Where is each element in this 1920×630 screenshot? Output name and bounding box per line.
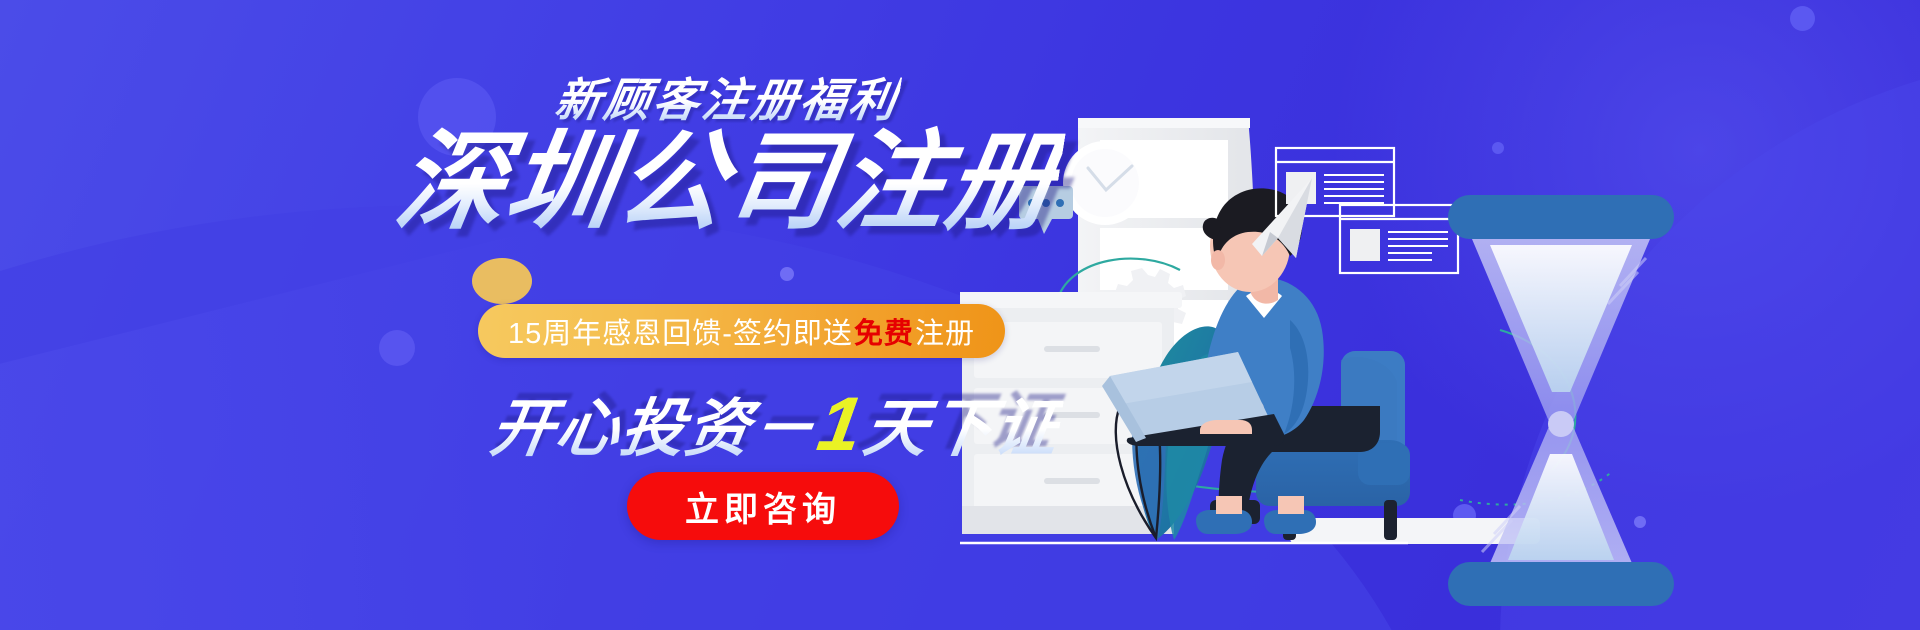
consult-now-label: 立即咨询: [685, 482, 841, 531]
hourglass: [1448, 195, 1674, 606]
copy-block: 新顾客注册福利 新顾客注册福利 深圳公司注册 深圳公司注册 15周年感恩回馈-签…: [0, 0, 1000, 630]
banner-tagline: 开心投资－1天下证: [485, 383, 1067, 467]
document-card-front-thumb: [1350, 229, 1380, 261]
promo-banner: 新顾客注册福利 新顾客注册福利 深圳公司注册 深圳公司注册 15周年感恩回馈-签…: [0, 0, 1920, 630]
page-title: 深圳公司注册: [389, 125, 1067, 238]
promo-badge: 15周年感恩回馈-签约即送免费注册: [478, 304, 1005, 358]
promo-highlight: 免费: [853, 310, 915, 352]
document-card-back-lines: [1324, 175, 1384, 203]
tagline-suffix: 天下证: [859, 394, 1065, 464]
headline-wrap: 深圳公司注册 深圳公司注册: [398, 125, 1058, 238]
tagline-wrap: 开心投资－1天下证 开心投资－1天下证: [492, 383, 1060, 467]
promo-suffix: 注册: [915, 310, 975, 352]
tagline-prefix: 开心投资－: [486, 394, 822, 464]
wall-clock: [1063, 141, 1147, 225]
illustration: [960, 0, 1920, 630]
promo-prefix: 15周年感恩回馈-签约即送: [508, 310, 853, 352]
consult-now-button[interactable]: 立即咨询: [627, 472, 899, 540]
document-card-front-lines: [1388, 232, 1448, 260]
